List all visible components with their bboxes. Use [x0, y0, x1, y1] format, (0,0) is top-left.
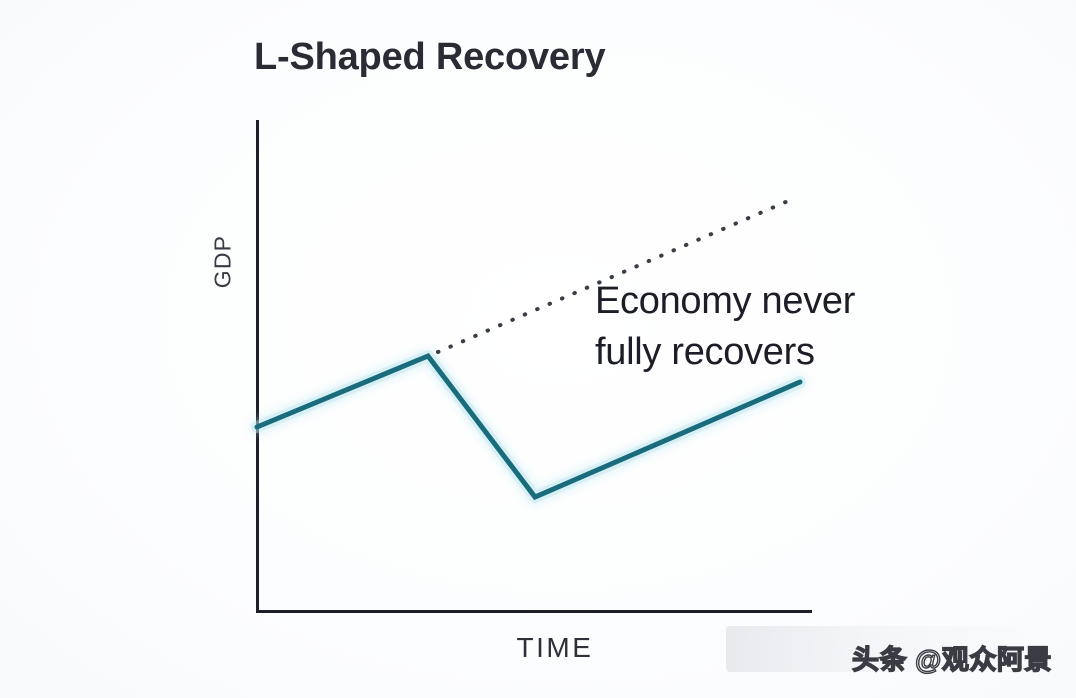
- gdp-actual-line: [257, 356, 800, 497]
- x-axis-label: TIME: [455, 632, 655, 664]
- y-axis-label: GDP: [210, 222, 237, 302]
- chart-plot-area: [0, 0, 1076, 698]
- gdp-line-glow: [257, 356, 800, 497]
- watermark-text: 头条 @观众阿景: [852, 638, 1052, 677]
- chart-figure: L-Shaped Recovery GDP TIME Economy never…: [0, 0, 1076, 698]
- chart-annotation: Economy never fully recovers: [595, 276, 855, 377]
